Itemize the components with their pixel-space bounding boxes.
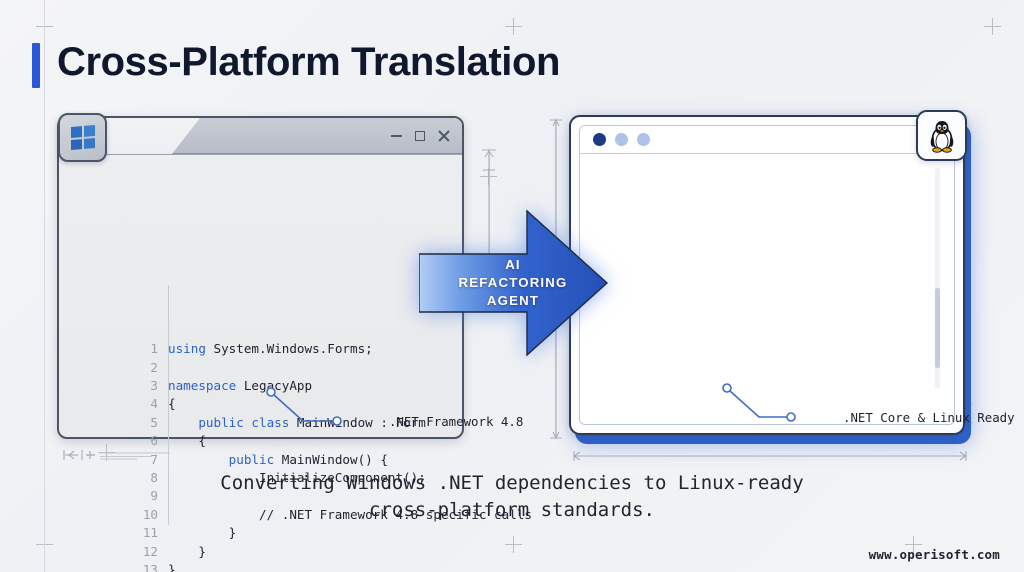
page-title: Cross-Platform Translation	[57, 40, 560, 85]
penguin-glyph	[927, 119, 957, 153]
watermark: www.operisoft.com	[869, 547, 1000, 562]
code-line: 12 }	[132, 543, 532, 561]
windows-logo-icon	[58, 113, 107, 162]
code-text: {	[168, 432, 206, 450]
arrow-label: AI REFACTORING AGENT	[452, 256, 574, 310]
window-titlebar[interactable]	[580, 126, 954, 154]
traffic-light-minimize-icon[interactable]	[615, 133, 628, 146]
close-icon[interactable]	[438, 130, 450, 142]
line-number: 12	[132, 543, 168, 561]
code-line: 11 }	[132, 524, 532, 542]
arrow-label-line2: REFACTORING	[452, 274, 574, 292]
code-line: 2	[132, 359, 532, 377]
decor-cross-icon	[505, 18, 522, 35]
left-callout-label: .NET Framework 4.8	[389, 414, 523, 429]
code-text: public MainWindow() {	[168, 451, 388, 469]
caption: Converting Windows .NET dependencies to …	[0, 470, 1024, 524]
code-text: {	[168, 395, 176, 413]
traffic-light-close-icon[interactable]	[593, 133, 606, 146]
line-number: 2	[132, 359, 168, 377]
decor-dimension-horizontal	[572, 450, 968, 462]
code-line: 13}	[132, 561, 532, 572]
windows-glyph	[71, 125, 95, 150]
code-text: }	[168, 543, 206, 561]
left-callout: .NET Framework 4.8	[265, 386, 465, 444]
code-line: 7 public MainWindow() {	[132, 451, 532, 469]
caption-line-1: Converting Windows .NET dependencies to …	[0, 470, 1024, 497]
right-window-inner	[579, 125, 955, 425]
line-number: 1	[132, 340, 168, 358]
line-number: 7	[132, 451, 168, 469]
left-code-rows: 1using System.Windows.Forms;23namespace …	[132, 340, 532, 572]
traffic-light-maximize-icon[interactable]	[637, 133, 650, 146]
scrollbar-thumb[interactable]	[935, 288, 940, 368]
code-text: }	[168, 524, 236, 542]
arrow-label-line1: AI	[452, 256, 574, 274]
line-number: 13	[132, 561, 168, 572]
linux-penguin-icon	[916, 110, 967, 161]
caption-line-2: cross-platform standards.	[0, 497, 1024, 524]
slide-canvas: Cross-Platform Translation 1using System…	[0, 0, 1024, 572]
line-number: 3	[132, 377, 168, 395]
right-callout: .NET Core & Linux Ready	[721, 382, 951, 440]
line-number: 11	[132, 524, 168, 542]
title-accent-bar	[32, 43, 40, 88]
window-titlebar[interactable]	[59, 118, 462, 155]
line-number: 4	[132, 395, 168, 413]
line-number: 5	[132, 414, 168, 432]
windows-code-window[interactable]: 1using System.Windows.Forms;23namespace …	[57, 116, 464, 439]
window-controls[interactable]	[391, 118, 450, 154]
linux-code-window[interactable]: 1#!/bin/bash23# .NET Core compatible scr…	[569, 115, 965, 435]
arrow-label-line3: AGENT	[452, 292, 574, 310]
right-scrollbar[interactable]	[935, 168, 940, 388]
code-text: }	[168, 561, 176, 572]
maximize-icon[interactable]	[415, 131, 425, 141]
line-number: 6	[132, 432, 168, 450]
minimize-icon[interactable]	[391, 135, 402, 137]
decor-cross-icon	[984, 18, 1001, 35]
code-text: using System.Windows.Forms;	[168, 340, 373, 358]
right-callout-label: .NET Core & Linux Ready	[843, 410, 1015, 425]
